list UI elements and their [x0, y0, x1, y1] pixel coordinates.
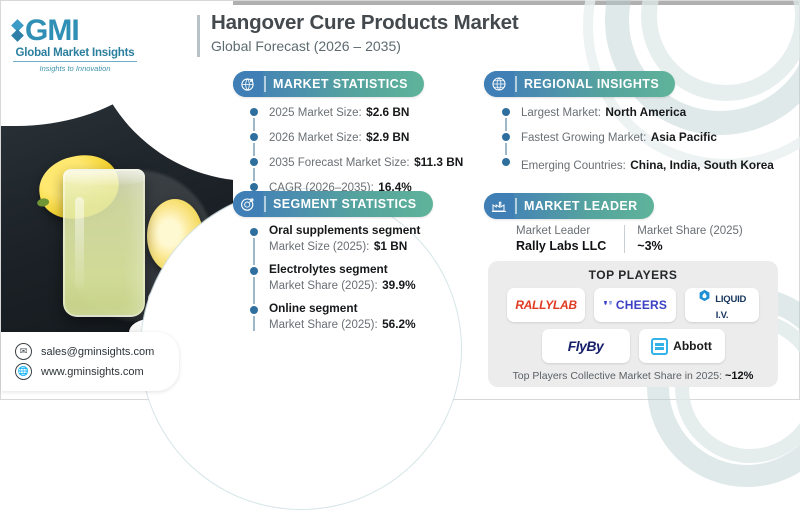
item-label: Emerging Countries:	[521, 160, 626, 172]
leader-caption: Market Leader	[516, 225, 606, 237]
market-leader-share-col: Market Share (2025) ~3%	[637, 225, 760, 253]
lemon-drink-glass	[63, 169, 145, 317]
contact-email: sales@gminsights.com	[41, 346, 154, 358]
factory-icon	[484, 193, 514, 219]
player-logo-cheers[interactable]: CHEERS	[594, 288, 676, 322]
share-value: ~3%	[637, 239, 742, 253]
bullet-dot	[502, 108, 510, 116]
list-item: Fastest Growing Market: Asia Pacific	[501, 128, 779, 146]
market-leader-block: Market Leader Rally Labs LLC Market Shar…	[516, 225, 761, 253]
item-label: Fastest Growing Market:	[521, 132, 646, 144]
player-logo-label: CHEERS	[616, 298, 667, 312]
item-value: $2.9 BN	[366, 130, 409, 144]
section-badge-market-leader: MARKET LEADER	[484, 193, 654, 219]
top-players-row-2: FlyBy Abbott	[498, 329, 768, 363]
bullet-dot	[250, 158, 258, 166]
diamonds-icon	[13, 21, 22, 40]
item-label: 2025 Market Size:	[269, 107, 362, 119]
item-label: Market Share (2025):	[269, 319, 378, 331]
list-item: Oral supplements segment Market Size (20…	[249, 223, 464, 255]
top-players-footer: Top Players Collective Market Share in 2…	[498, 370, 768, 382]
list-item: Largest Market: North America	[501, 103, 779, 121]
bullet-dot	[502, 133, 510, 141]
bullet-dot	[250, 228, 258, 236]
page-title: Hangover Cure Products Market	[211, 11, 518, 35]
list-item: Emerging Countries: China, India, South …	[501, 153, 779, 176]
envelope-icon: ✉	[15, 343, 32, 360]
player-logo-label: LIQUID I.V.	[715, 294, 746, 321]
item-label: Market Share (2025):	[269, 280, 378, 292]
item-value: Asia Pacific	[651, 130, 717, 144]
section-badge-market-statistics: MARKET STATISTICS	[233, 71, 424, 97]
market-statistics-list: 2025 Market Size: $2.6 BN 2026 Market Si…	[249, 103, 464, 203]
brand-logo: GMI Global Market Insights Insights to I…	[13, 17, 137, 73]
list-item: Electrolytes segment Market Share (2025)…	[249, 262, 464, 294]
item-value: $1 BN	[374, 239, 407, 253]
section-badge-label: MARKET STATISTICS	[273, 77, 424, 91]
bullet-dot	[250, 108, 258, 116]
page-header: Hangover Cure Products Market Global For…	[197, 11, 518, 54]
leader-name: Rally Labs LLC	[516, 239, 606, 253]
liquid-iv-wrap: LIQUID I.V.	[693, 289, 751, 322]
item-value: $11.3 BN	[414, 155, 463, 169]
cheers-glasses-icon	[603, 300, 613, 310]
globe-icon: 🌐	[15, 363, 32, 380]
item-value: North America	[605, 105, 686, 119]
abbott-a-icon	[651, 338, 668, 355]
page-subtitle: Global Forecast (2026 – 2035)	[211, 38, 518, 54]
item-heading: Oral supplements segment	[269, 223, 464, 237]
market-leader-name-col: Market Leader Rally Labs LLC	[516, 225, 624, 253]
globe-icon	[484, 71, 514, 97]
column-divider	[624, 225, 625, 253]
contact-email-row[interactable]: ✉ sales@gminsights.com	[15, 343, 169, 360]
title-rule	[197, 15, 200, 57]
player-logo-label: Abbott	[673, 339, 712, 353]
list-item: 2035 Forecast Market Size: $11.3 BN	[249, 153, 464, 171]
bullet-dot	[250, 306, 258, 314]
player-logo-liquid-iv[interactable]: LIQUID I.V.	[685, 288, 759, 322]
contact-footer: ✉ sales@gminsights.com 🌐 www.gminsights.…	[1, 332, 179, 391]
item-label: 2026 Market Size:	[269, 132, 362, 144]
cheers-mark-wrap: CHEERS	[603, 298, 667, 312]
bullet-dot	[250, 267, 258, 275]
section-badge-label: REGIONAL INSIGHTS	[524, 77, 675, 91]
top-players-row-1: RALLYLAB CHEERS LIQUID I.V.	[498, 288, 768, 322]
footer-label: Top Players Collective Market Share in 2…	[513, 370, 723, 382]
item-value: $2.6 BN	[366, 105, 409, 119]
item-label: Market Size (2025):	[269, 241, 369, 253]
hexagon-droplet-icon	[698, 289, 711, 302]
contact-website: www.gminsights.com	[41, 366, 144, 378]
bullet-dot	[250, 133, 258, 141]
player-logo-label: RALLYLAB	[515, 298, 576, 312]
globe-chart-icon	[233, 71, 263, 97]
item-value: 39.9%	[382, 278, 415, 292]
section-badge-label: MARKET LEADER	[524, 199, 654, 213]
item-value: 56.2%	[382, 317, 415, 331]
list-item: 2025 Market Size: $2.6 BN	[249, 103, 464, 121]
player-logo-rallylab[interactable]: RALLYLAB	[507, 288, 585, 322]
item-heading: Online segment	[269, 301, 464, 315]
logo-tagline: Insights to Innovation	[13, 64, 137, 73]
player-logo-flyby[interactable]: FlyBy	[542, 329, 630, 363]
item-heading: Electrolytes segment	[269, 262, 464, 276]
contact-website-row[interactable]: 🌐 www.gminsights.com	[15, 363, 169, 380]
player-logo-abbott[interactable]: Abbott	[639, 329, 725, 363]
item-label: 2035 Forecast Market Size:	[269, 157, 410, 169]
section-badge-segment-statistics: SEGMENT STATISTICS	[233, 191, 433, 217]
section-badge-label: SEGMENT STATISTICS	[273, 197, 433, 211]
target-arrow-icon	[233, 191, 263, 217]
top-players-panel: TOP PLAYERS RALLYLAB CHEERS LIQUID I.V. …	[488, 261, 778, 387]
abbott-wrap: Abbott	[651, 338, 712, 355]
section-badge-regional-insights: REGIONAL INSIGHTS	[484, 71, 675, 97]
logo-initials: GMI	[25, 17, 79, 44]
player-logo-label: FlyBy	[568, 338, 604, 354]
footer-value: ~12%	[725, 370, 753, 382]
regional-insights-list: Largest Market: North America Fastest Gr…	[501, 103, 779, 183]
list-item: Online segment Market Share (2025): 56.2…	[249, 301, 464, 333]
logo-mark-row: GMI	[13, 17, 137, 44]
top-players-title: TOP PLAYERS	[498, 268, 768, 282]
item-label: Largest Market:	[521, 107, 601, 119]
bullet-dot	[502, 158, 510, 166]
bullet-dot	[250, 183, 258, 191]
logo-company-name: Global Market Insights	[13, 47, 137, 62]
list-item: 2026 Market Size: $2.9 BN	[249, 128, 464, 146]
share-caption: Market Share (2025)	[637, 225, 742, 237]
item-value: China, India, South Korea	[630, 158, 774, 172]
segment-statistics-list: Oral supplements segment Market Size (20…	[249, 223, 464, 340]
